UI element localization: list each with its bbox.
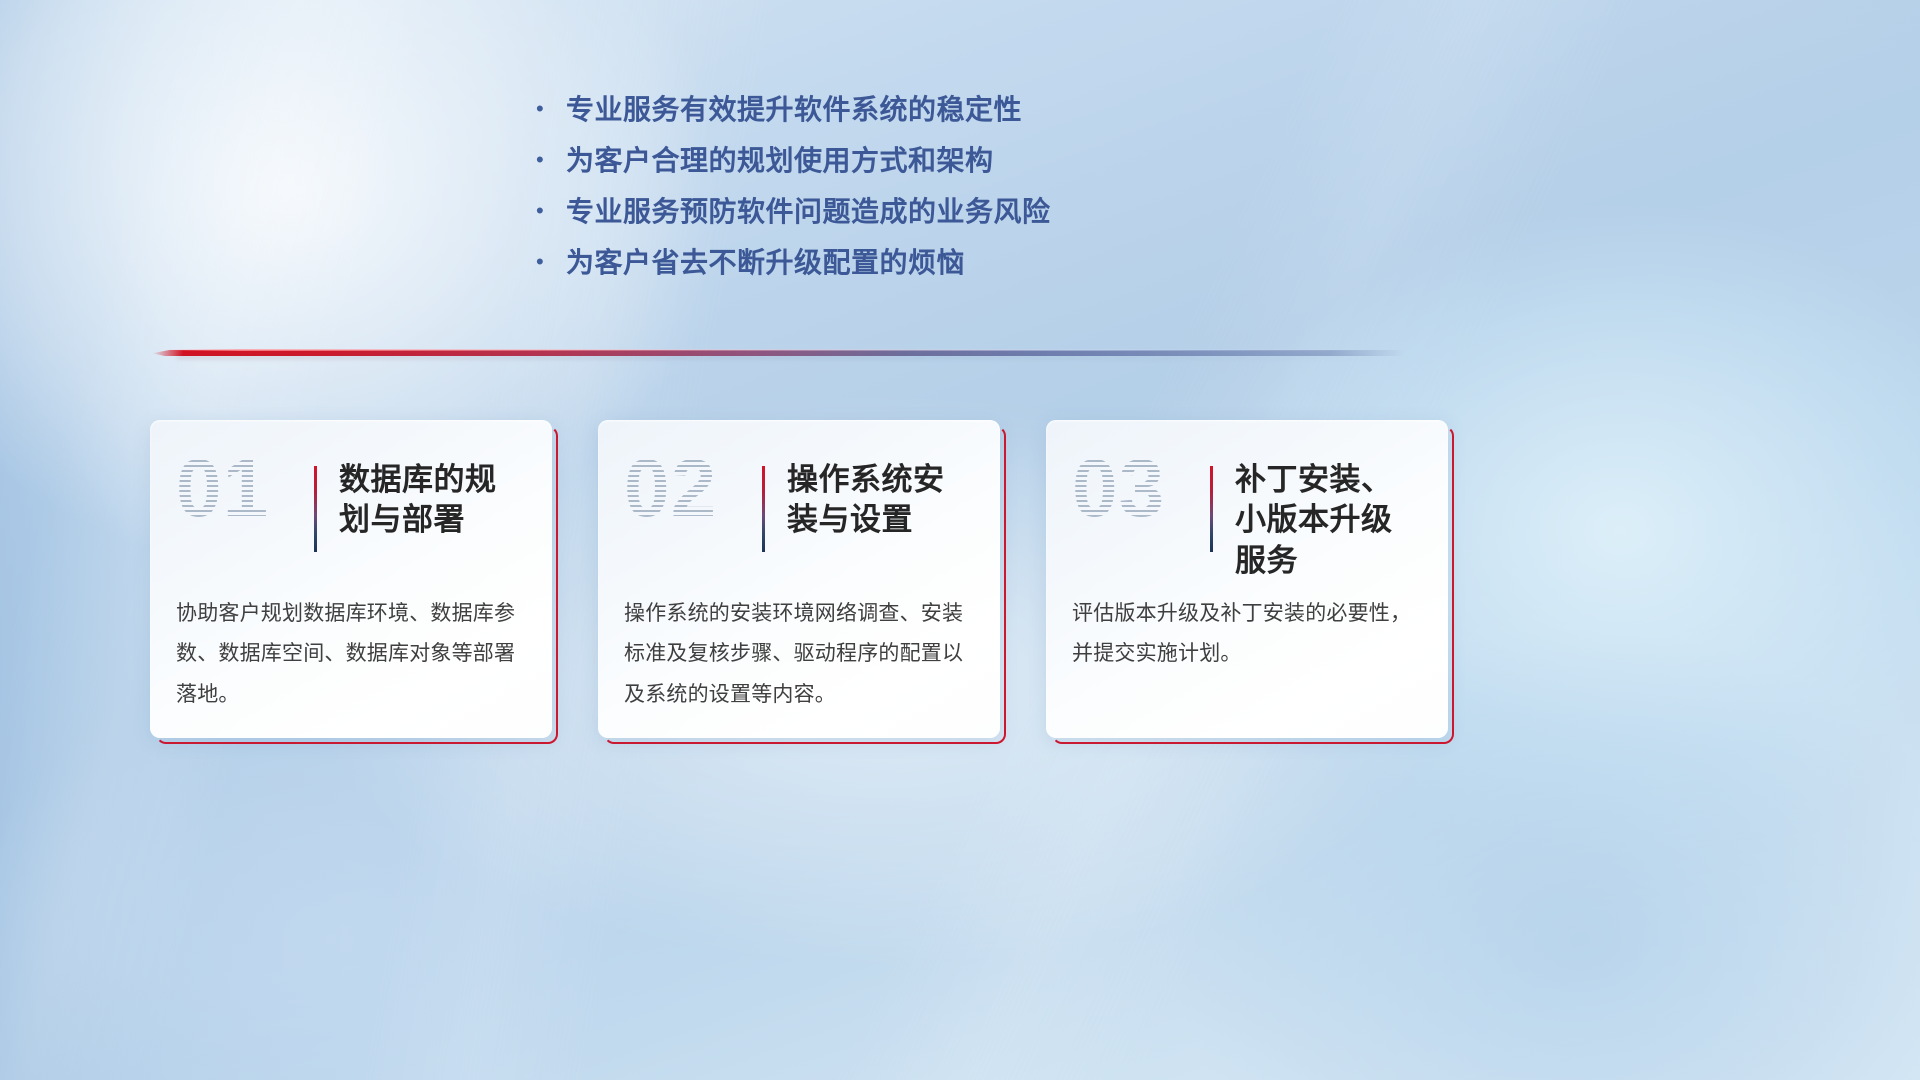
benefits-bullet-list: • 专业服务有效提升软件系统的稳定性 • 为客户合理的规划使用方式和架构 • 专… xyxy=(536,88,1236,292)
service-card-2[interactable]: 02 操作系统安装与设置 操作系统的安装环境网络调查、安装标准及复核步骤、驱动程… xyxy=(598,420,1000,738)
card-title-1: 数据库的规划与部署 xyxy=(339,456,522,541)
bullet-dot-icon: • xyxy=(536,98,566,120)
bullet-text-3: 专业服务预防软件问题造成的业务风险 xyxy=(566,190,1051,230)
card-number-02: 02 xyxy=(624,450,756,528)
card-number-01: 01 xyxy=(176,450,308,528)
service-card-3[interactable]: 03 补丁安装、小版本升级服务 评估版本升级及补丁安装的必要性，并提交实施计划。 xyxy=(1046,420,1448,738)
card-header: 02 操作系统安装与设置 xyxy=(624,452,970,572)
bullet-item-4: • 为客户省去不断升级配置的烦恼 xyxy=(536,241,1236,292)
card-body-1: 协助客户规划数据库环境、数据库参数、数据库空间、数据库对象等部署落地。 xyxy=(176,594,522,715)
bullet-dot-icon: • xyxy=(536,149,566,171)
bullet-text-2: 为客户合理的规划使用方式和架构 xyxy=(566,139,994,179)
service-card-1[interactable]: 01 数据库的规划与部署 协助客户规划数据库环境、数据库参数、数据库空间、数据库… xyxy=(150,420,552,738)
divider-highlight xyxy=(165,349,1404,351)
service-cards: 01 数据库的规划与部署 协助客户规划数据库环境、数据库参数、数据库空间、数据库… xyxy=(150,420,1448,738)
card-header: 03 补丁安装、小版本升级服务 xyxy=(1072,452,1418,572)
card-header: 01 数据库的规划与部署 xyxy=(176,452,522,572)
card-title-2: 操作系统安装与设置 xyxy=(787,456,970,541)
bullet-item-1: • 专业服务有效提升软件系统的稳定性 xyxy=(536,88,1236,139)
bullet-text-4: 为客户省去不断升级配置的烦恼 xyxy=(566,241,965,281)
bullet-dot-icon: • xyxy=(536,251,566,273)
bullet-item-2: • 为客户合理的规划使用方式和架构 xyxy=(536,139,1236,190)
section-divider xyxy=(152,348,1404,359)
bullet-item-3: • 专业服务预防软件问题造成的业务风险 xyxy=(536,190,1236,241)
card-divider-bar xyxy=(762,466,765,552)
slide-content: • 专业服务有效提升软件系统的稳定性 • 为客户合理的规划使用方式和架构 • 专… xyxy=(0,0,1920,1080)
card-body-3: 评估版本升级及补丁安装的必要性，并提交实施计划。 xyxy=(1072,594,1418,675)
card-number-03: 03 xyxy=(1072,450,1204,528)
card-divider-bar xyxy=(314,466,317,552)
card-title-3: 补丁安装、小版本升级服务 xyxy=(1235,456,1418,581)
bullet-dot-icon: • xyxy=(536,200,566,222)
divider-shadow xyxy=(177,356,1391,359)
card-divider-bar xyxy=(1210,466,1213,552)
bullet-text-1: 专业服务有效提升软件系统的稳定性 xyxy=(566,88,1022,128)
card-body-2: 操作系统的安装环境网络调查、安装标准及复核步骤、驱动程序的配置以及系统的设置等内… xyxy=(624,594,970,715)
